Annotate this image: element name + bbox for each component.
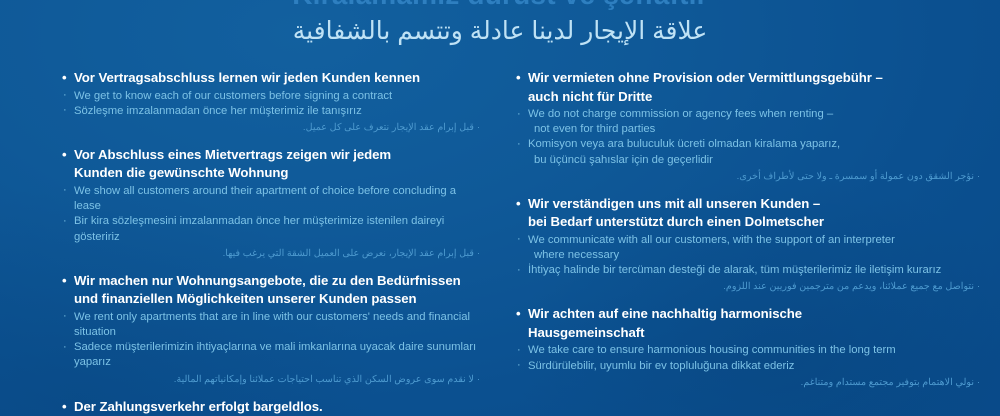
subline-english: not even for third parties — [516, 122, 982, 137]
bullet-icon: • — [62, 70, 67, 87]
bullet-icon: · — [474, 122, 480, 132]
promise-block: •Wir achten auf eine nachhaltig harmonis… — [516, 306, 982, 389]
subline-english: ·We take care to ensure harmonious housi… — [516, 343, 982, 358]
subline-arabic: ·نؤجر الشقق دون عمولة أو سمسرة ـ ولا حتى… — [516, 169, 982, 184]
subline-turkish: ·Sözleşme imzalanmadan önce her müşterim… — [62, 104, 482, 119]
bullet-icon: · — [474, 374, 480, 384]
headline-german: bei Bedarf unterstützt durch einen Dolme… — [516, 214, 982, 231]
headline-german: •Wir machen nur Wohnungsangebote, die zu… — [62, 273, 482, 290]
bullet-icon: · — [63, 88, 67, 103]
bullet-icon: • — [62, 273, 67, 290]
subline-turkish: ·Sürdürülebilir, uyumlu bir ev topluluğu… — [516, 359, 982, 374]
headline-german-text: Vor Abschluss eines Mietvertrags zeigen … — [74, 147, 391, 162]
subline-turkish-text: Sözleşme imzalanmadan önce her müşterimi… — [74, 105, 362, 117]
bullet-icon: • — [516, 70, 521, 87]
subline-turkish-text: İhtiyaç halinde bir tercüman desteği de … — [528, 264, 941, 276]
bullet-icon: · — [63, 340, 67, 355]
promise-block: •Vor Abschluss eines Mietvertrags zeigen… — [62, 147, 482, 261]
content-columns: •Vor Vertragsabschluss lernen wir jeden … — [0, 70, 1000, 416]
subline-turkish-text: Komisyon veya ara buluculuk ücreti olmad… — [528, 138, 840, 150]
subline-english-text: We communicate with all our customers, w… — [528, 234, 895, 246]
subline-english-text: where necessary — [534, 249, 619, 261]
promise-block: •Wir machen nur Wohnungsangebote, die zu… — [62, 273, 482, 387]
subline-arabic-text: قبل إبرام عقد الإيجار، نعرض على العميل ا… — [223, 248, 474, 259]
subline-arabic: ·قبل إبرام عقد الإيجار، نعرض على العميل … — [62, 246, 482, 261]
subline-arabic-text: لا نقدم سوى عروض السكن الذي تناسب احتياج… — [174, 374, 474, 385]
promise-block: •Vor Vertragsabschluss lernen wir jeden … — [62, 70, 482, 135]
headline-german: auch nicht für Dritte — [516, 89, 982, 106]
subline-turkish: ·Bir kira sözleşmesini imzalanmadan önce… — [62, 214, 482, 244]
headline-german: •Wir vermieten ohne Provision oder Vermi… — [516, 70, 982, 87]
bullet-icon: · — [517, 232, 521, 247]
subline-english: ·We show all customers around their apar… — [62, 184, 482, 214]
bullet-icon: · — [517, 263, 521, 278]
headline-german-text: Vor Vertragsabschluss lernen wir jeden K… — [74, 70, 420, 85]
subline-turkish-text: bu üçüncü şahıslar için de geçerlidir — [534, 154, 713, 166]
headline-german: und finanziellen Möglichkeiten unserer K… — [62, 291, 482, 308]
subline-arabic: ·نتواصل مع جميع عملائنا، ويدعم من مترجمي… — [516, 279, 982, 294]
headline-german-text: Der Zahlungsverkehr erfolgt bargeldlos. — [74, 399, 323, 414]
subline-turkish: ·İhtiyaç halinde bir tercüman desteği de… — [516, 263, 982, 278]
bullet-icon: · — [63, 103, 67, 118]
bullet-icon: · — [63, 183, 67, 198]
subline-english-text: We show all customers around their apart… — [74, 185, 456, 212]
subline-arabic-text: نتواصل مع جميع عملائنا، ويدعم من مترجمين… — [723, 281, 974, 292]
subline-english-text: not even for third parties — [534, 123, 655, 135]
subline-turkish: ·Sadece müşterilerimizin ihtiyaçlarına v… — [62, 340, 482, 370]
subline-arabic: ·قبل إبرام عقد الإيجار نتعرف على كل عميل… — [62, 120, 482, 135]
bullet-icon: · — [517, 137, 521, 152]
bullet-icon: · — [974, 171, 980, 181]
headline-german: Hausgemeinschaft — [516, 325, 982, 342]
promise-block: •Wir verständigen uns mit all unseren Ku… — [516, 196, 982, 295]
bullet-icon: · — [974, 377, 980, 387]
bullet-icon: · — [474, 248, 480, 258]
bullet-icon: · — [517, 343, 521, 358]
promise-block: •Der Zahlungsverkehr erfolgt bargeldlos.… — [62, 399, 482, 416]
subline-english: ·We rent only apartments that are in lin… — [62, 310, 482, 340]
subline-english: where necessary — [516, 248, 982, 263]
bullet-icon: · — [974, 281, 980, 291]
page-title-turkish: Kiralamamız dürüst ve şeffaftır — [0, 0, 1000, 12]
bullet-icon: • — [516, 196, 521, 213]
slide-header: Kiralamamız dürüst ve şeffaftır علاقة ال… — [0, 0, 1000, 47]
subline-arabic-text: نولي الاهتمام بتوفير مجتمع مستدام ومتناغ… — [801, 377, 974, 388]
headline-german: •Vor Vertragsabschluss lernen wir jeden … — [62, 70, 482, 87]
headline-german-text: Wir verständigen uns mit all unseren Kun… — [528, 196, 820, 211]
subline-english-text: We do not charge commission or agency fe… — [528, 108, 833, 120]
headline-german: •Wir achten auf eine nachhaltig harmonis… — [516, 306, 982, 323]
subline-turkish: bu üçüncü şahıslar için de geçerlidir — [516, 153, 982, 168]
subline-english-text: We rent only apartments that are in line… — [74, 311, 470, 338]
slide-root: Kiralamamız dürüst ve şeffaftır علاقة ال… — [0, 0, 1000, 416]
subline-arabic: ·نولي الاهتمام بتوفير مجتمع مستدام ومتنا… — [516, 375, 982, 390]
headline-german-text: Wir vermieten ohne Provision oder Vermit… — [528, 70, 883, 85]
headline-german: •Der Zahlungsverkehr erfolgt bargeldlos. — [62, 399, 482, 416]
subline-turkish-text: Sadece müşterilerimizin ihtiyaçlarına ve… — [74, 341, 476, 368]
headline-german-text: Wir machen nur Wohnungsangebote, die zu … — [74, 273, 461, 288]
subline-turkish-text: Bir kira sözleşmesini imzalanmadan önce … — [74, 215, 444, 242]
subline-english: ·We get to know each of our customers be… — [62, 89, 482, 104]
headline-german-text: Wir achten auf eine nachhaltig harmonisc… — [528, 306, 802, 321]
bullet-icon: · — [63, 214, 67, 229]
bullet-icon: · — [517, 358, 521, 373]
headline-german: •Vor Abschluss eines Mietvertrags zeigen… — [62, 147, 482, 164]
page-title-arabic: علاقة الإيجار لدينا عادلة وتتسم بالشفافي… — [0, 15, 1000, 47]
subline-turkish: ·Komisyon veya ara buluculuk ücreti olma… — [516, 137, 982, 152]
subline-english-text: We get to know each of our customers bef… — [74, 90, 392, 102]
right-column: •Wir vermieten ohne Provision oder Vermi… — [500, 70, 1000, 416]
left-column: •Vor Vertragsabschluss lernen wir jeden … — [0, 70, 500, 416]
promise-block: •Wir vermieten ohne Provision oder Vermi… — [516, 70, 982, 184]
bullet-icon: · — [517, 107, 521, 122]
subline-english-text: We take care to ensure harmonious housin… — [528, 344, 896, 356]
subline-english: ·We communicate with all our customers, … — [516, 233, 982, 248]
headline-german: Kunden die gewünschte Wohnung — [62, 165, 482, 182]
subline-english: ·We do not charge commission or agency f… — [516, 107, 982, 122]
bullet-icon: · — [63, 309, 67, 324]
subline-arabic-text: قبل إبرام عقد الإيجار نتعرف على كل عميل. — [303, 122, 474, 133]
headline-german: •Wir verständigen uns mit all unseren Ku… — [516, 196, 982, 213]
bullet-icon: • — [516, 306, 521, 323]
bullet-icon: • — [62, 399, 67, 416]
bullet-icon: • — [62, 147, 67, 164]
subline-arabic-text: نؤجر الشقق دون عمولة أو سمسرة ـ ولا حتى … — [737, 171, 974, 182]
subline-turkish-text: Sürdürülebilir, uyumlu bir ev topluluğun… — [528, 360, 794, 372]
subline-arabic: ·لا نقدم سوى عروض السكن الذي تناسب احتيا… — [62, 372, 482, 387]
